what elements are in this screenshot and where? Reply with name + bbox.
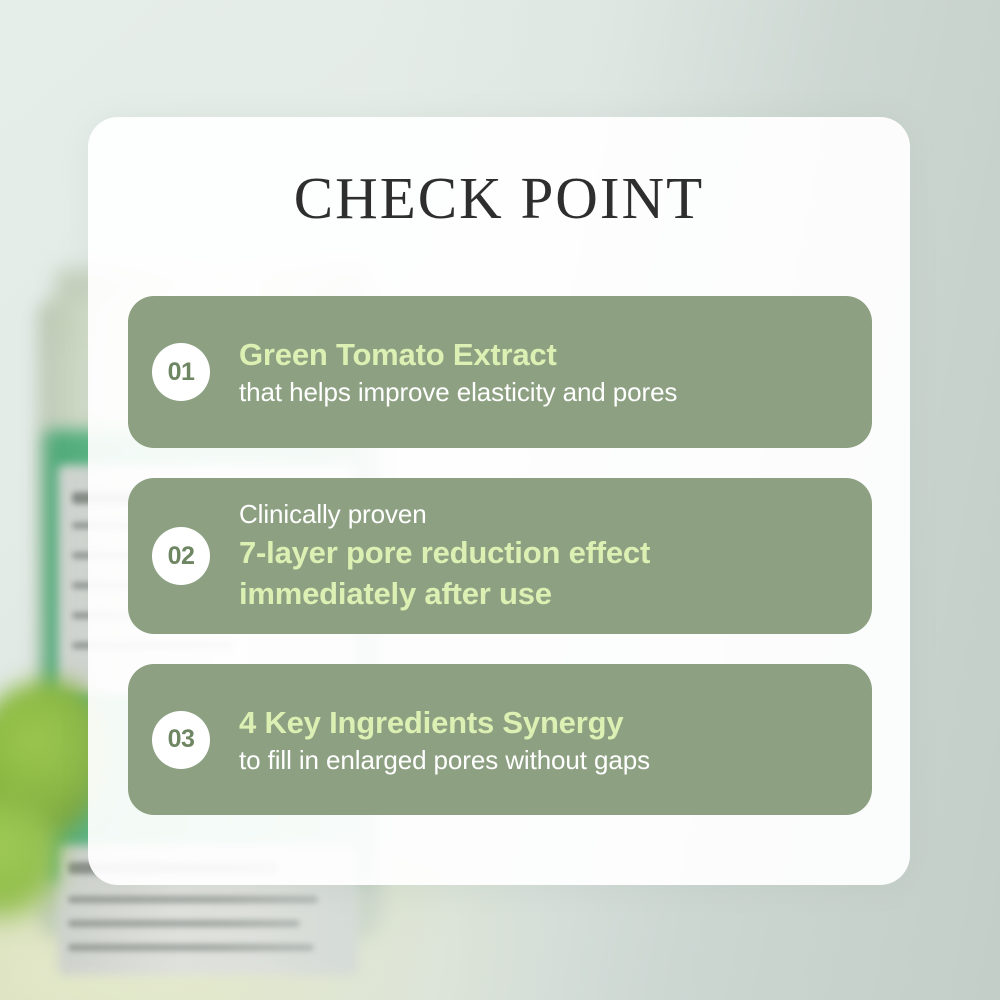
check-point-headline-02-line2: immediately after use <box>239 573 650 614</box>
check-point-text-03: 4 Key Ingredients Synergy to fill in enl… <box>239 702 674 778</box>
check-point-text-01: Green Tomato Extract that helps improve … <box>239 334 701 410</box>
check-point-headline-01: Green Tomato Extract <box>239 334 677 375</box>
step-number-badge-01: 01 <box>152 343 210 401</box>
check-point-item-01[interactable]: 01 Green Tomato Extract that helps impro… <box>128 296 872 448</box>
check-point-text-02: Clinically proven 7-layer pore reduction… <box>239 497 674 614</box>
check-point-subline-03: to fill in enlarged pores without gaps <box>239 743 650 778</box>
check-point-headline-02-line1: 7-layer pore reduction effect <box>239 532 650 573</box>
step-number-badge-03: 03 <box>152 711 210 769</box>
content-panel: CHECK POINT 01 Green Tomato Extract that… <box>88 117 910 885</box>
check-point-item-02[interactable]: 02 Clinically proven 7-layer pore reduct… <box>128 478 872 634</box>
step-number-badge-02: 02 <box>152 527 210 585</box>
check-point-item-03[interactable]: 03 4 Key Ingredients Synergy to fill in … <box>128 664 872 815</box>
check-point-headline-03: 4 Key Ingredients Synergy <box>239 702 650 743</box>
page-title: CHECK POINT <box>88 169 910 228</box>
check-point-subline-01: that helps improve elasticity and pores <box>239 375 677 410</box>
check-point-subline-02: Clinically proven <box>239 497 650 532</box>
page-root: CHECK POINT 01 Green Tomato Extract that… <box>0 0 1000 1000</box>
check-point-list: 01 Green Tomato Extract that helps impro… <box>128 296 872 815</box>
